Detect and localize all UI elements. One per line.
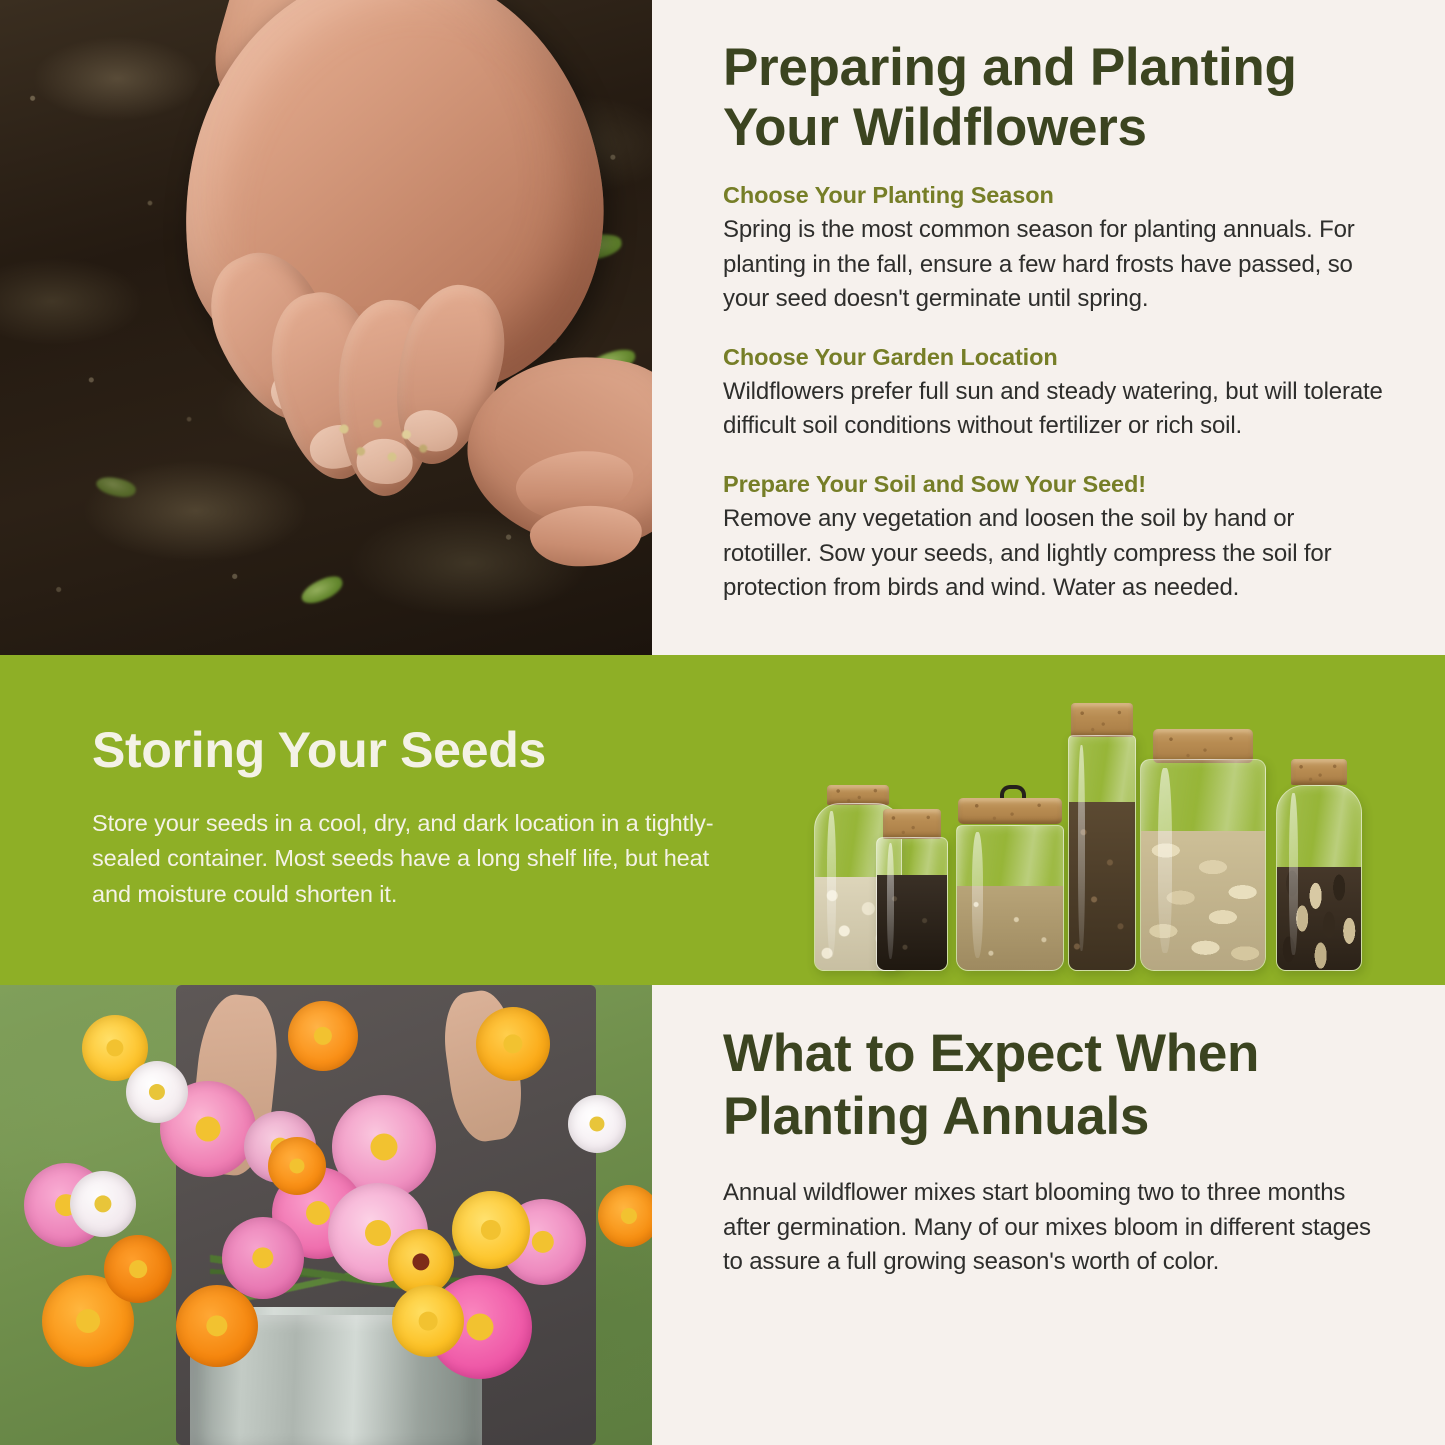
bottom-text-panel: What to Expect When Planting Annuals Ann… [652,985,1445,1445]
hands-sowing-seeds-photo [0,0,652,655]
flower-bloom [70,1171,136,1237]
info-block-planting-season: Choose Your Planting Season Spring is th… [723,181,1385,317]
body-garden-location: Wildflowers prefer full sun and steady w… [723,375,1385,444]
bottom-section-body: Annual wildflower mixes start blooming t… [723,1176,1385,1280]
wildflower-bucket-photo [0,985,652,1445]
subheading-garden-location: Choose Your Garden Location [723,343,1385,371]
top-section: Preparing and Planting Your Wildflowers … [0,0,1445,655]
flower-bloom [176,1285,258,1367]
bottom-section-title: What to Expect When Planting Annuals [723,1023,1385,1148]
storing-seeds-body: Store your seeds in a cool, dry, and dar… [92,806,722,912]
page-title: Preparing and Planting Your Wildflowers [723,38,1385,159]
flower-bloom [126,1061,188,1123]
flower-bloom [452,1191,530,1269]
flower-bloom [568,1095,626,1153]
black-seed-jar [876,809,948,971]
body-prepare-soil: Remove any vegetation and loosen the soi… [723,502,1385,606]
brown-seed-tube-jar [1068,703,1136,971]
storing-seeds-band: Storing Your Seeds Store your seeds in a… [0,655,1445,985]
flower-bloom [476,1007,550,1081]
infographic-page: Preparing and Planting Your Wildflowers … [0,0,1445,1445]
pumpkin-seed-jar [1140,729,1266,971]
flower-bloom [598,1185,652,1247]
subheading-prepare-soil: Prepare Your Soil and Sow Your Seed! [723,470,1385,498]
tan-grain-seed-jar [956,785,1064,971]
flower-bloom [268,1137,326,1195]
info-block-garden-location: Choose Your Garden Location Wildflowers … [723,343,1385,444]
storing-seeds-title: Storing Your Seeds [92,723,722,778]
flower-bloom [104,1235,172,1303]
storing-seeds-text: Storing Your Seeds Store your seeds in a… [92,723,722,912]
sunflower-seed-jar [1276,759,1362,971]
flower-bloom [288,1001,358,1071]
seeds-in-palm [320,408,440,478]
body-planting-season: Spring is the most common season for pla… [723,213,1385,317]
subheading-planting-season: Choose Your Planting Season [723,181,1385,209]
bottom-section: What to Expect When Planting Annuals Ann… [0,985,1445,1445]
flower-bloom [392,1285,464,1357]
seed-jars-photo [810,671,1410,971]
top-text-panel: Preparing and Planting Your Wildflowers … [652,0,1445,655]
flower-bloom [222,1217,304,1299]
info-block-prepare-soil: Prepare Your Soil and Sow Your Seed! Rem… [723,470,1385,606]
